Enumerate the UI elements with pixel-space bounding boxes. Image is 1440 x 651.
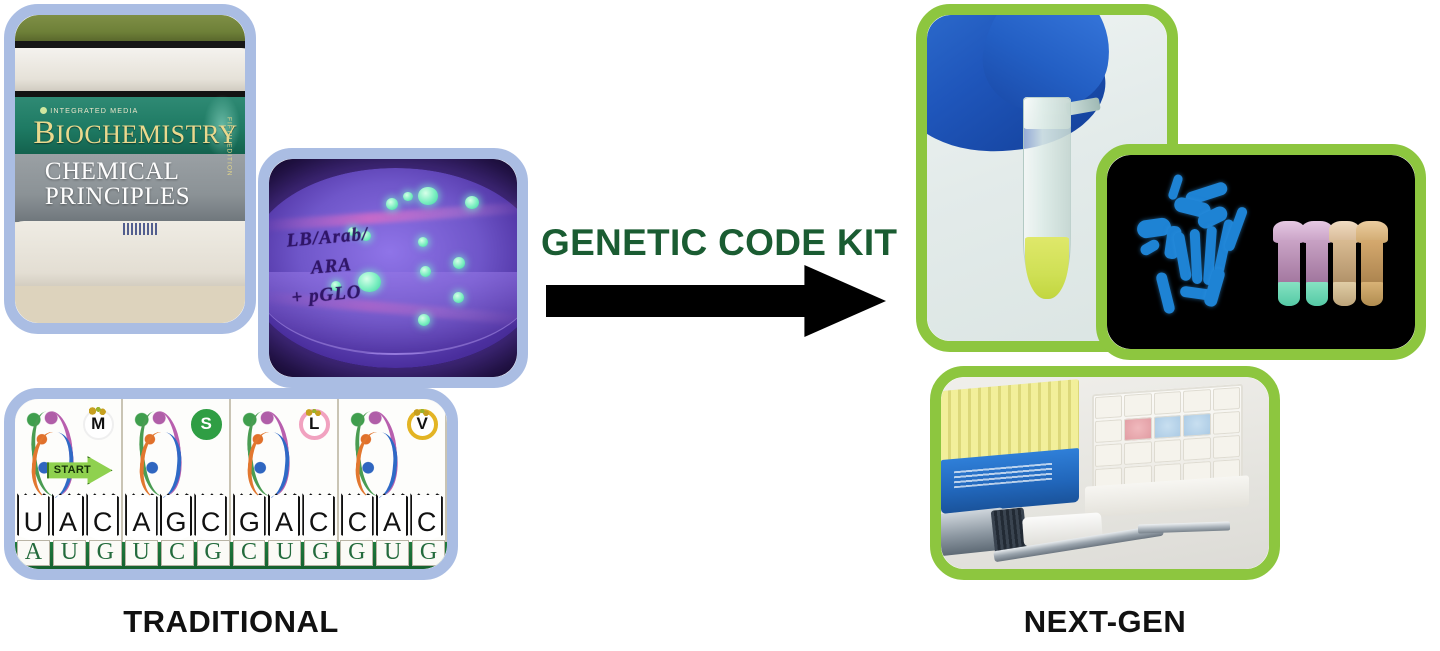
panel-textbooks: INTEGRATED MEDIA BIOCHEMISTRY FIFTH EDIT… — [4, 4, 256, 334]
tube-fill — [1333, 282, 1355, 306]
amino-acid-squiggle-icon — [414, 409, 428, 416]
protein-structure-photo — [1107, 155, 1415, 349]
vial-slot — [1212, 386, 1239, 410]
vial-slot — [1124, 441, 1151, 465]
vial-slot-b — [1183, 412, 1210, 436]
trna-helix-icon — [21, 409, 78, 498]
transition-arrow-icon — [546, 265, 886, 337]
mrna-base: U — [53, 540, 86, 566]
caption-next-gen: NEXT-GEN — [930, 604, 1280, 640]
colony — [453, 292, 464, 303]
trna-card-row: M START U A C S — [15, 399, 447, 542]
vial-slot — [1212, 410, 1239, 434]
panel-lab-kit — [930, 366, 1280, 580]
tube-fill — [1278, 282, 1300, 306]
trna-card: S A G C — [123, 399, 231, 542]
amino-acid-letter: V — [417, 414, 428, 434]
anticodon-base: G — [233, 493, 266, 542]
caption-traditional: TRADITIONAL — [4, 604, 458, 640]
anticodon-base: C — [86, 493, 119, 542]
anticodon-base: C — [410, 493, 443, 542]
mrna-base: A — [17, 540, 50, 566]
mrna-base: C — [233, 540, 266, 566]
tube-liquid — [1025, 237, 1068, 299]
vial-slot — [1154, 391, 1181, 415]
amino-acid-badge: M — [83, 409, 114, 440]
amino-acid-badge: L — [299, 409, 330, 440]
mrna-base: U — [125, 540, 158, 566]
vial-slot — [1095, 395, 1122, 419]
mrna-base: U — [268, 540, 301, 566]
arrow-head — [804, 265, 886, 337]
barcode-icon — [123, 223, 158, 235]
anticodon-base: U — [17, 493, 50, 542]
trna-card: L G A C — [231, 399, 339, 542]
trna-helix-icon — [129, 409, 186, 498]
anticodon-row: U A C — [17, 493, 119, 542]
anticodon-row: A G C — [125, 493, 227, 542]
pipettor-tip — [1138, 521, 1230, 533]
trna-helix-icon — [237, 409, 294, 498]
mrna-base: G — [340, 540, 373, 566]
trna-card: V C A C — [339, 399, 447, 542]
colony — [418, 314, 430, 326]
genetic-code-kit-label: GENETIC CODE KIT — [541, 222, 897, 264]
amino-acid-letter: L — [309, 414, 319, 434]
mrna-base: C — [161, 540, 194, 566]
panel-petri-dish: LB/Arab/ ARA + pGLO — [258, 148, 528, 388]
imprint-bullet-icon — [40, 107, 47, 114]
table-surface — [15, 286, 245, 323]
protein-ribbon-icon — [1132, 171, 1274, 334]
lab-kit-photo — [941, 377, 1269, 569]
vial-slot — [1154, 438, 1181, 462]
anticodon-base: A — [125, 493, 158, 542]
vial-slot — [1124, 393, 1151, 417]
panel-codon-cards: M START U A C S — [4, 388, 458, 580]
reaction-tube — [1333, 221, 1355, 306]
colony — [418, 237, 428, 247]
vial-slot — [1095, 419, 1122, 443]
anticodon-base: C — [302, 493, 335, 542]
anticodon-base: C — [194, 493, 227, 542]
anticodon-base: A — [376, 493, 409, 542]
amino-acid-letter: S — [201, 414, 212, 434]
book-pages-1 — [15, 48, 245, 93]
mrna-strip: A U G U C G C U G G U G — [15, 540, 447, 566]
tube-fill — [1306, 282, 1328, 306]
mrna-base: G — [197, 540, 230, 566]
amino-acid-badge: S — [191, 409, 222, 440]
anticodon-base: G — [160, 493, 193, 542]
book-imprint-label: INTEGRATED MEDIA — [40, 106, 138, 115]
mrna-base: G — [89, 540, 122, 566]
reaction-tube — [1278, 221, 1300, 306]
imprint-text: INTEGRATED MEDIA — [50, 106, 138, 115]
anticodon-base: A — [52, 493, 85, 542]
anticodon-row: C A C — [341, 493, 443, 542]
colony — [453, 257, 465, 269]
colony — [465, 196, 479, 209]
amino-acid-letter: M — [91, 414, 105, 434]
book-top-edge — [15, 15, 245, 43]
vial-slot — [1183, 389, 1210, 413]
arrow-shaft — [546, 285, 815, 317]
figure-canvas: INTEGRATED MEDIA BIOCHEMISTRY FIFTH EDIT… — [0, 0, 1440, 651]
mrna-base: U — [376, 540, 409, 566]
start-label: START — [54, 464, 91, 476]
anticodon-row: G A C — [233, 493, 335, 542]
vial-slot — [1212, 434, 1239, 458]
vial-slot-a — [1154, 415, 1181, 439]
codon-cards-photo: M START U A C S — [15, 399, 447, 569]
vial-slot — [1095, 443, 1122, 467]
mrna-base: G — [412, 540, 445, 566]
book-title-biochemistry: BIOCHEMISTRY — [33, 115, 237, 152]
trna-card: M START U A C — [15, 399, 123, 542]
plate-handwriting: LB/Arab/ ARA + pGLO — [285, 221, 374, 313]
reaction-tube — [1306, 221, 1328, 306]
anticodon-base: A — [268, 493, 301, 542]
colony — [418, 187, 438, 204]
mrna-base: G — [304, 540, 337, 566]
tube-fill — [1361, 282, 1383, 306]
panel-protein-structure — [1096, 144, 1426, 360]
petri-dish-photo: LB/Arab/ ARA + pGLO — [269, 159, 517, 377]
book-title-chemical-principles: CHEMICAL PRINCIPLES — [45, 159, 245, 209]
vial-slot-dna — [1124, 417, 1151, 441]
anticodon-base: C — [341, 493, 374, 542]
vial-slot — [1183, 436, 1210, 460]
textbooks-photo: INTEGRATED MEDIA BIOCHEMISTRY FIFTH EDIT… — [15, 15, 245, 323]
trna-helix-icon — [345, 409, 402, 498]
amino-acid-squiggle-icon — [89, 407, 106, 415]
reaction-tube — [1361, 221, 1383, 306]
amino-acid-badge: V — [407, 409, 438, 440]
amino-acid-squiggle-icon — [306, 409, 320, 416]
